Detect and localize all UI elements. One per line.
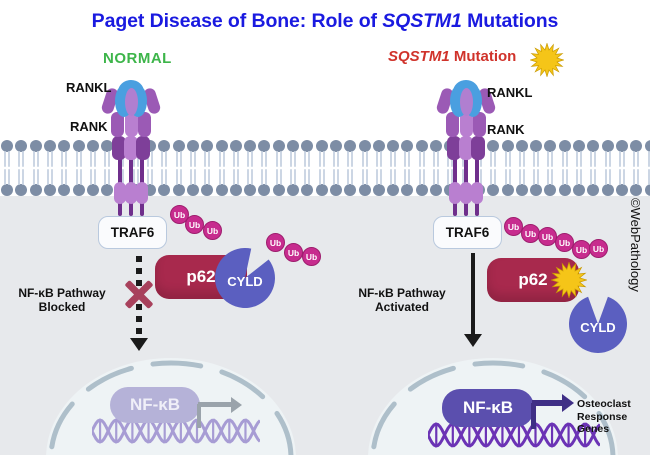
- panel-header-mutation: SQSTM1 Mutation: [388, 48, 516, 65]
- phospholipid-icon: [329, 140, 343, 168]
- phospholipid-icon: [586, 140, 600, 168]
- phospholipid-icon: [315, 140, 329, 168]
- phospholipid-icon: [172, 168, 186, 196]
- activated-arrowhead: [464, 334, 482, 347]
- phospholipid-icon: [629, 168, 643, 196]
- phospholipid-icon: [186, 168, 200, 196]
- phospholipid-icon: [386, 168, 400, 196]
- phospholipid-icon: [601, 168, 615, 196]
- phospholipid-icon: [272, 168, 286, 196]
- phospholipid-icon: [558, 140, 572, 168]
- nfkb-dna-connector-right: [531, 403, 536, 429]
- phospholipid-icon: [501, 140, 515, 168]
- phospholipid-icon: [429, 140, 443, 168]
- phospholipid-icon: [286, 168, 300, 196]
- starburst-icon-p62: [551, 262, 587, 298]
- phospholipid-icon: [358, 168, 372, 196]
- phospholipid-icon: [86, 168, 100, 196]
- phospholipid-icon: [343, 140, 357, 168]
- phospholipid-icon: [157, 140, 171, 168]
- phospholipid-icon: [529, 168, 543, 196]
- blocked-arrowhead: [130, 338, 148, 351]
- ubiquitin-traf6-chain-left: Ub: [203, 221, 222, 240]
- rank-intracellular-domain: [471, 182, 483, 204]
- pathway-status-right-line1: NF-κB Pathway: [358, 286, 445, 300]
- title-post: Mutations: [462, 10, 559, 32]
- phospholipid-icon: [257, 168, 271, 196]
- ubiquitin-traf6-chain-left: Ub: [185, 215, 204, 234]
- phospholipid-icon: [229, 168, 243, 196]
- phospholipid-icon: [486, 168, 500, 196]
- phospholipid-icon: [0, 168, 14, 196]
- rankl-core-domain: [460, 88, 473, 116]
- phospholipid-icon: [172, 140, 186, 168]
- phospholipid-icon: [229, 140, 243, 168]
- phospholipid-icon: [243, 168, 257, 196]
- membrane-leaflet-top: [0, 140, 650, 168]
- phospholipid-icon: [644, 140, 650, 168]
- traf6-node-left: TRAF6: [98, 216, 167, 249]
- target-genes-line1: Osteoclast: [577, 398, 631, 410]
- blocked-arrow-dot: [136, 316, 142, 322]
- rank-tm-domain: [136, 136, 150, 160]
- phospholipid-icon: [572, 140, 586, 168]
- cyld-protein-left: CYLD: [215, 248, 275, 308]
- rankl-label-right: RANKL: [487, 85, 533, 100]
- phospholipid-icon: [14, 140, 28, 168]
- phospholipid-icon: [372, 168, 386, 196]
- phospholipid-icon: [200, 140, 214, 168]
- ubiquitin-traf6-chain-right: Ub: [521, 224, 540, 243]
- phospholipid-icon: [57, 168, 71, 196]
- title-pre: Paget Disease of Bone: Role of: [92, 10, 383, 32]
- pathway-status-right-line2: Activated: [375, 300, 429, 314]
- pathway-status-left: NF-κB PathwayBlocked: [8, 286, 116, 314]
- activated-arrow-line: [471, 253, 475, 338]
- phospholipid-icon: [0, 140, 14, 168]
- traf6-node-right: TRAF6: [433, 216, 502, 249]
- phospholipid-icon: [400, 168, 414, 196]
- phospholipid-icon: [43, 140, 57, 168]
- nfkb-output-arrowhead-left: [231, 397, 242, 413]
- phospholipid-icon: [586, 168, 600, 196]
- nfkb-node-right: NF-κB: [442, 389, 534, 427]
- blocked-arrow-dot: [136, 328, 142, 334]
- phospholipid-icon: [415, 168, 429, 196]
- nfkb-node-left: NF-κB: [110, 387, 200, 423]
- phospholipid-icon: [200, 168, 214, 196]
- phospholipid-icon: [543, 168, 557, 196]
- phospholipid-icon: [57, 140, 71, 168]
- phospholipid-icon: [629, 140, 643, 168]
- phospholipid-icon: [86, 140, 100, 168]
- phospholipid-icon: [615, 140, 629, 168]
- membrane-leaflet-bot: [0, 168, 650, 196]
- x-cross-icon: [122, 278, 156, 312]
- phospholipid-icon: [543, 140, 557, 168]
- phospholipid-icon: [157, 168, 171, 196]
- starburst-icon-header: [530, 43, 564, 77]
- target-genes-label: OsteoclastResponseGenes: [577, 398, 631, 436]
- pathway-status-right: NF-κB PathwayActivated: [348, 286, 456, 314]
- phospholipid-icon: [272, 140, 286, 168]
- rank-label-right: RANK: [487, 122, 525, 137]
- target-genes-line2: Response: [577, 411, 627, 423]
- phospholipid-icon: [343, 168, 357, 196]
- blocked-arrow-dot: [136, 268, 142, 274]
- phospholipid-icon: [300, 168, 314, 196]
- phospholipid-icon: [215, 168, 229, 196]
- rank-tm-domain: [471, 136, 485, 160]
- phospholipid-icon: [72, 140, 86, 168]
- phospholipid-icon: [329, 168, 343, 196]
- rank-intracellular-domain: [136, 182, 148, 204]
- mutation-gene: SQSTM1: [388, 48, 450, 65]
- blocked-arrow-dot: [136, 256, 142, 262]
- phospholipid-icon: [601, 140, 615, 168]
- mutation-word: Mutation: [450, 48, 517, 65]
- phospholipid-icon: [644, 168, 650, 196]
- ubiquitin-traf6-chain-right: Ub: [589, 239, 608, 258]
- phospholipid-icon: [615, 168, 629, 196]
- phospholipid-icon: [486, 140, 500, 168]
- cyld-protein-right: CYLD: [569, 295, 627, 353]
- phospholipid-icon: [72, 168, 86, 196]
- phospholipid-icon: [372, 140, 386, 168]
- phospholipid-icon: [515, 140, 529, 168]
- page-title: Paget Disease of Bone: Role of SQSTM1 Mu…: [0, 10, 650, 33]
- rankl-label-left: RANKL: [66, 80, 112, 95]
- title-gene: SQSTM1: [382, 10, 462, 32]
- phospholipid-icon: [501, 168, 515, 196]
- phospholipid-icon: [572, 168, 586, 196]
- phospholipid-icon: [529, 140, 543, 168]
- nfkb-output-arrow-left: [198, 402, 233, 407]
- phospholipid-icon: [29, 168, 43, 196]
- phospholipid-icon: [243, 140, 257, 168]
- phospholipid-icon: [400, 140, 414, 168]
- rankl-core-domain: [125, 88, 138, 116]
- cyld-label: CYLD: [215, 251, 275, 311]
- nfkb-dna-connector-left: [197, 404, 201, 428]
- phospholipid-icon: [386, 140, 400, 168]
- lipid-bilayer-icon: [0, 140, 650, 196]
- target-genes-line3: Genes: [577, 423, 609, 435]
- pathway-status-left-line1: NF-κB Pathway: [18, 286, 105, 300]
- ubiquitin-free-chain-left: Ub: [302, 247, 321, 266]
- pathway-status-left-line2: Blocked: [39, 300, 86, 314]
- phospholipid-icon: [515, 168, 529, 196]
- cyld-label: CYLD: [569, 298, 627, 356]
- rank-label-left: RANK: [70, 119, 108, 134]
- phospholipid-icon: [14, 168, 28, 196]
- phospholipid-icon: [558, 168, 572, 196]
- phospholipid-icon: [429, 168, 443, 196]
- phospholipid-icon: [215, 140, 229, 168]
- phospholipid-icon: [100, 168, 114, 196]
- phospholipid-icon: [300, 140, 314, 168]
- phospholipid-icon: [29, 140, 43, 168]
- phospholipid-icon: [186, 140, 200, 168]
- nfkb-output-arrowhead-right: [562, 394, 574, 412]
- diagram-canvas: Paget Disease of Bone: Role of SQSTM1 Mu…: [0, 0, 650, 455]
- phospholipid-icon: [358, 140, 372, 168]
- phospholipid-icon: [315, 168, 329, 196]
- phospholipid-icon: [415, 140, 429, 168]
- panel-header-normal: NORMAL: [103, 50, 172, 67]
- nfkb-output-arrow-right: [532, 400, 565, 406]
- phospholipid-icon: [286, 140, 300, 168]
- phospholipid-icon: [43, 168, 57, 196]
- watermark: ©WebPathology: [628, 198, 643, 292]
- ubiquitin-free-chain-left: Ub: [284, 243, 303, 262]
- phospholipid-icon: [257, 140, 271, 168]
